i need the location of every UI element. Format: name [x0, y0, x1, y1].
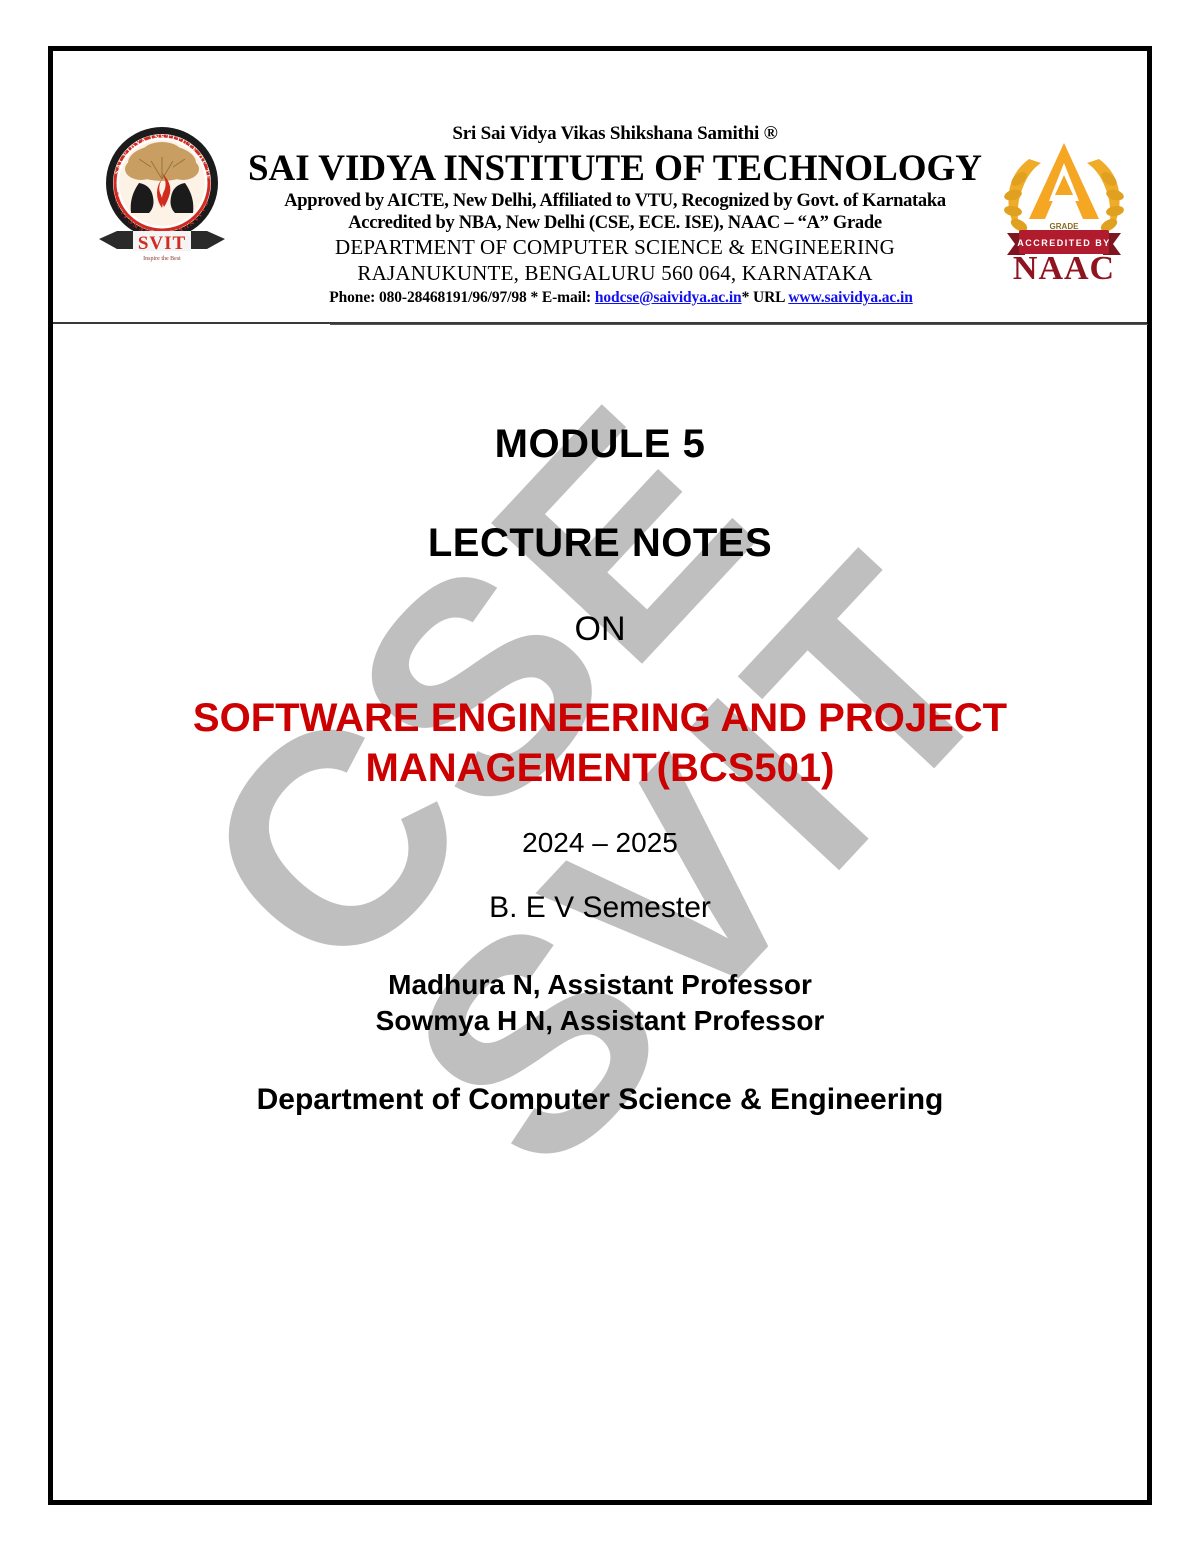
svg-text:GRADE: GRADE [1050, 222, 1080, 231]
svit-logo-icon: SAI VIDYA INSTITUTE OF TECHNOLOGY RAJANU… [91, 117, 233, 269]
module-title: MODULE 5 [53, 422, 1147, 467]
accreditation-line: Accredited by NBA, New Delhi (CSE, ECE. … [243, 213, 987, 234]
letterhead-text: Sri Sai Vidya Vikas Shikshana Samithi ® … [243, 123, 987, 307]
header-address: RAJANUKUNTE, BENGALURU 560 064, KARNATAK… [243, 261, 987, 286]
society-name: Sri Sai Vidya Vikas Shikshana Samithi ® [243, 123, 987, 145]
cover-content: MODULE 5 LECTURE NOTES ON SOFTWARE ENGIN… [53, 330, 1147, 1117]
contact-line: Phone: 080-28468191/96/97/98 * E-mail: h… [195, 289, 1047, 307]
department-line: Department of Computer Science & Enginee… [53, 1083, 1147, 1117]
program-semester: B. E V Semester [53, 891, 1147, 925]
email-link[interactable]: hodcse@saividya.ac.in [595, 289, 742, 306]
svg-text:NAAC: NAAC [1013, 250, 1115, 285]
document-page: CSESVIT [0, 0, 1200, 1553]
letterhead-header: SAI VIDYA INSTITUTE OF TECHNOLOGY RAJANU… [53, 51, 1147, 323]
author-2: Sowmya H N, Assistant Professor [53, 1003, 1147, 1039]
naac-logo-icon: GRADE ACCREDITED BY NAAC [991, 129, 1137, 285]
approval-line: Approved by AICTE, New Delhi, Affiliated… [243, 191, 987, 212]
academic-year: 2024 – 2025 [53, 827, 1147, 859]
institute-name: SAI VIDYA INSTITUTE OF TECHNOLOGY [243, 147, 987, 190]
svg-text:SVIT: SVIT [138, 233, 186, 254]
subject-title: SOFTWARE ENGINEERING AND PROJECT MANAGEM… [53, 693, 1147, 793]
author-block: Madhura N, Assistant Professor Sowmya H … [53, 967, 1147, 1039]
website-link[interactable]: www.saividya.ac.in [788, 289, 912, 306]
svg-text:ACCREDITED BY: ACCREDITED BY [1017, 238, 1111, 248]
header-department: DEPARTMENT OF COMPUTER SCIENCE & ENGINEE… [243, 235, 987, 260]
on-label: ON [53, 610, 1147, 649]
contact-url-label: * URL [742, 289, 789, 306]
author-1: Madhura N, Assistant Professor [53, 967, 1147, 1003]
document-type-title: LECTURE NOTES [53, 521, 1147, 566]
contact-phone-label: Phone: 080-28468191/96/97/98 * E-mail: [329, 289, 595, 306]
svg-text:Inspire the Best: Inspire the Best [143, 256, 181, 262]
header-separator-rule-secondary [330, 324, 1148, 325]
